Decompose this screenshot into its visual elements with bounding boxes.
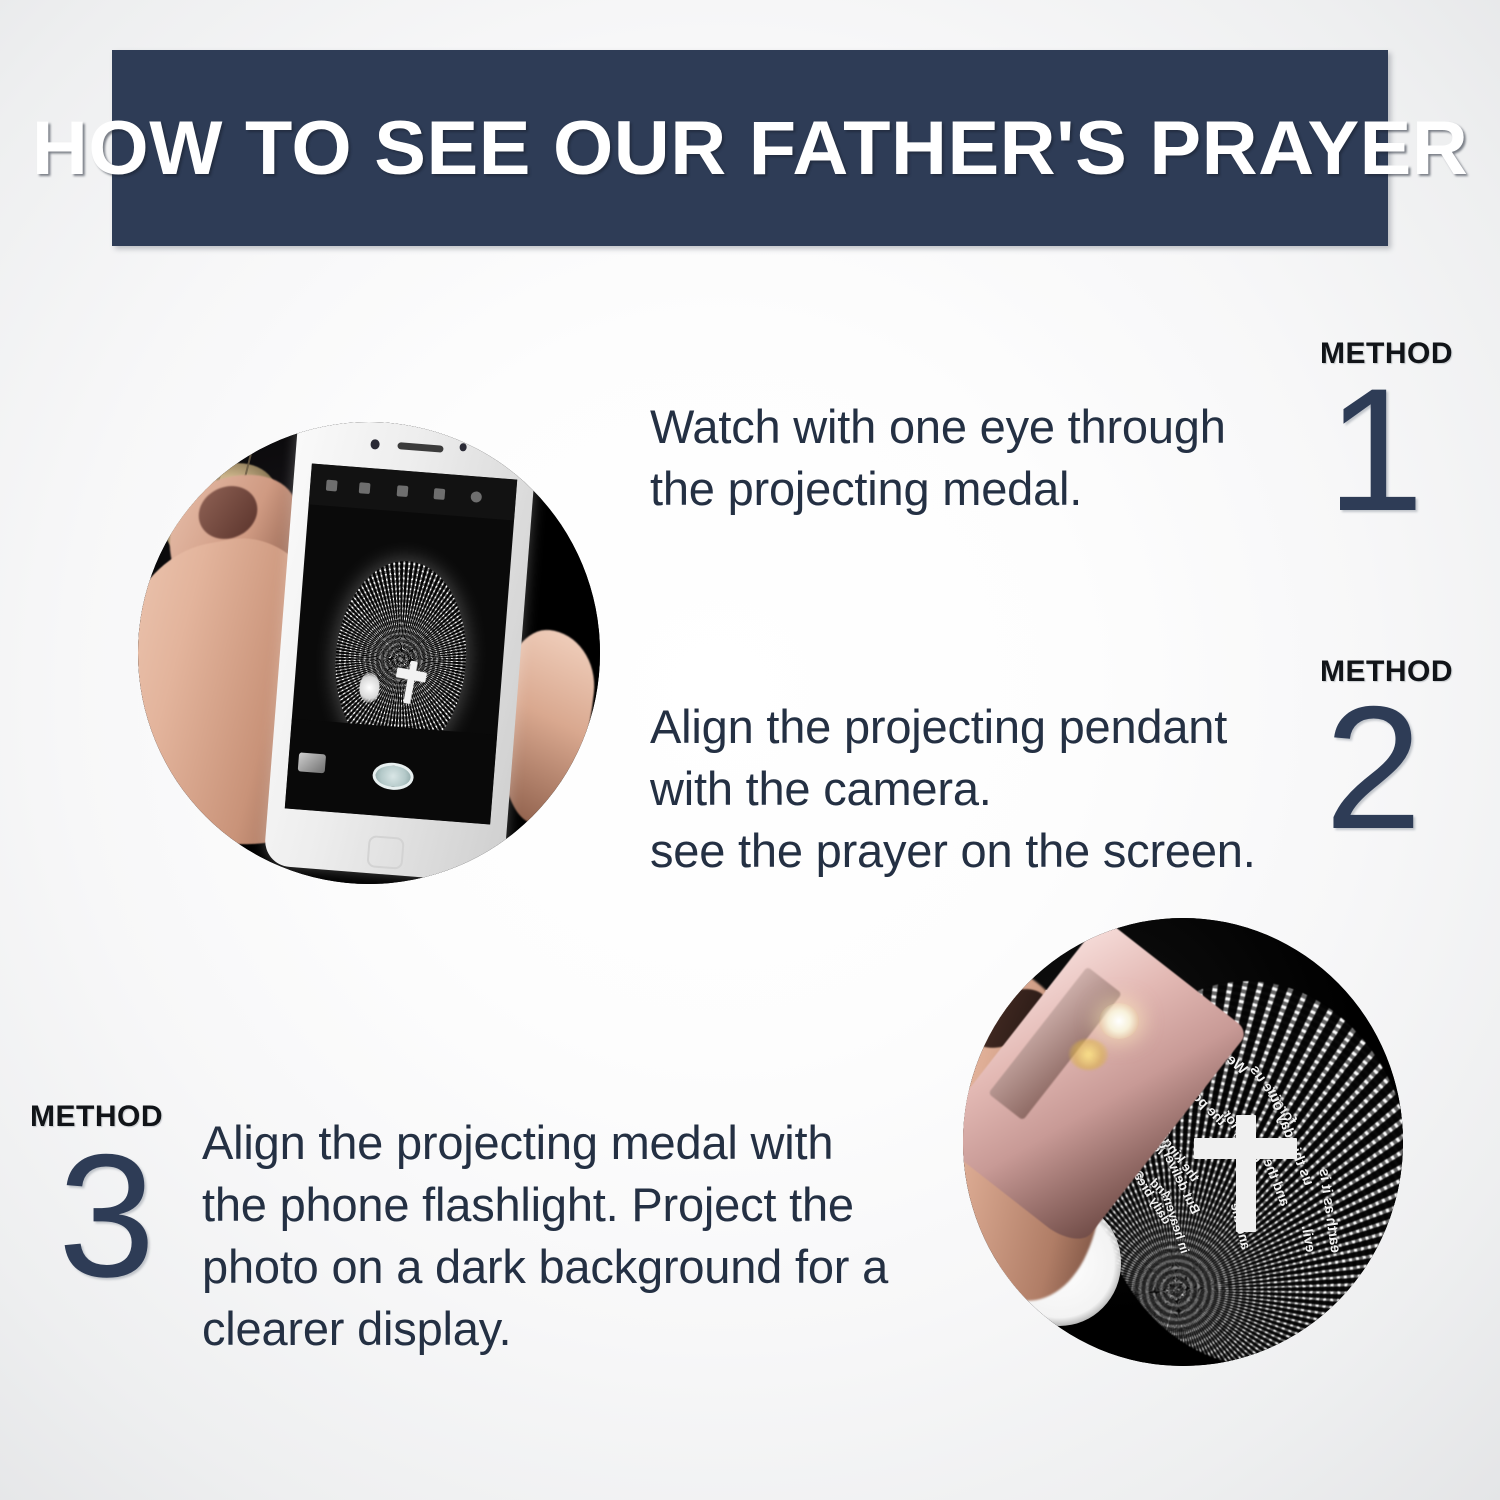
- flash-icon: [326, 479, 338, 491]
- proximity-sensor-icon: [460, 443, 467, 451]
- title-banner: HOW TO SEE OUR FATHER'S PRAYER: [112, 50, 1388, 246]
- timer-icon: [433, 488, 445, 500]
- photo-2-content: be done.OnGiveAnddaily bread.in heaven.t…: [963, 918, 1403, 1366]
- method-2-number: 2: [1325, 690, 1422, 848]
- shutter-button: [371, 761, 414, 791]
- gallery-thumbnail: [298, 752, 326, 774]
- home-button: [367, 835, 405, 870]
- phone-screen: [285, 463, 518, 825]
- filters-icon: [471, 490, 483, 502]
- method-1-instruction-text: Watch with one eye through the projectin…: [650, 396, 1310, 520]
- method-1-photo: [138, 422, 600, 884]
- hdr-icon: [359, 482, 371, 494]
- front-camera-icon: [371, 438, 380, 449]
- photo-1-content: [138, 422, 600, 884]
- method-1-number: 1: [1327, 372, 1424, 530]
- method-3-instruction-text: Align the projecting medal with the phon…: [202, 1112, 962, 1360]
- live-photo-icon: [396, 485, 408, 497]
- cross-icon: [1236, 1115, 1256, 1231]
- page-title: HOW TO SEE OUR FATHER'S PRAYER: [32, 105, 1468, 192]
- earpiece-speaker: [397, 442, 443, 452]
- method-3-number: 3: [58, 1138, 155, 1296]
- camera-mode-strip: [303, 729, 484, 743]
- white-iphone: [263, 422, 539, 883]
- camera-top-toolbar: [309, 463, 518, 521]
- camera-bottom-toolbar: [285, 719, 498, 825]
- flashlight-led-icon: [1099, 1003, 1139, 1039]
- method-3-photo: be done.OnGiveAnddaily bread.in heaven.t…: [963, 918, 1403, 1366]
- method-2-instruction-text: Align the projecting pendant with the ca…: [650, 696, 1330, 882]
